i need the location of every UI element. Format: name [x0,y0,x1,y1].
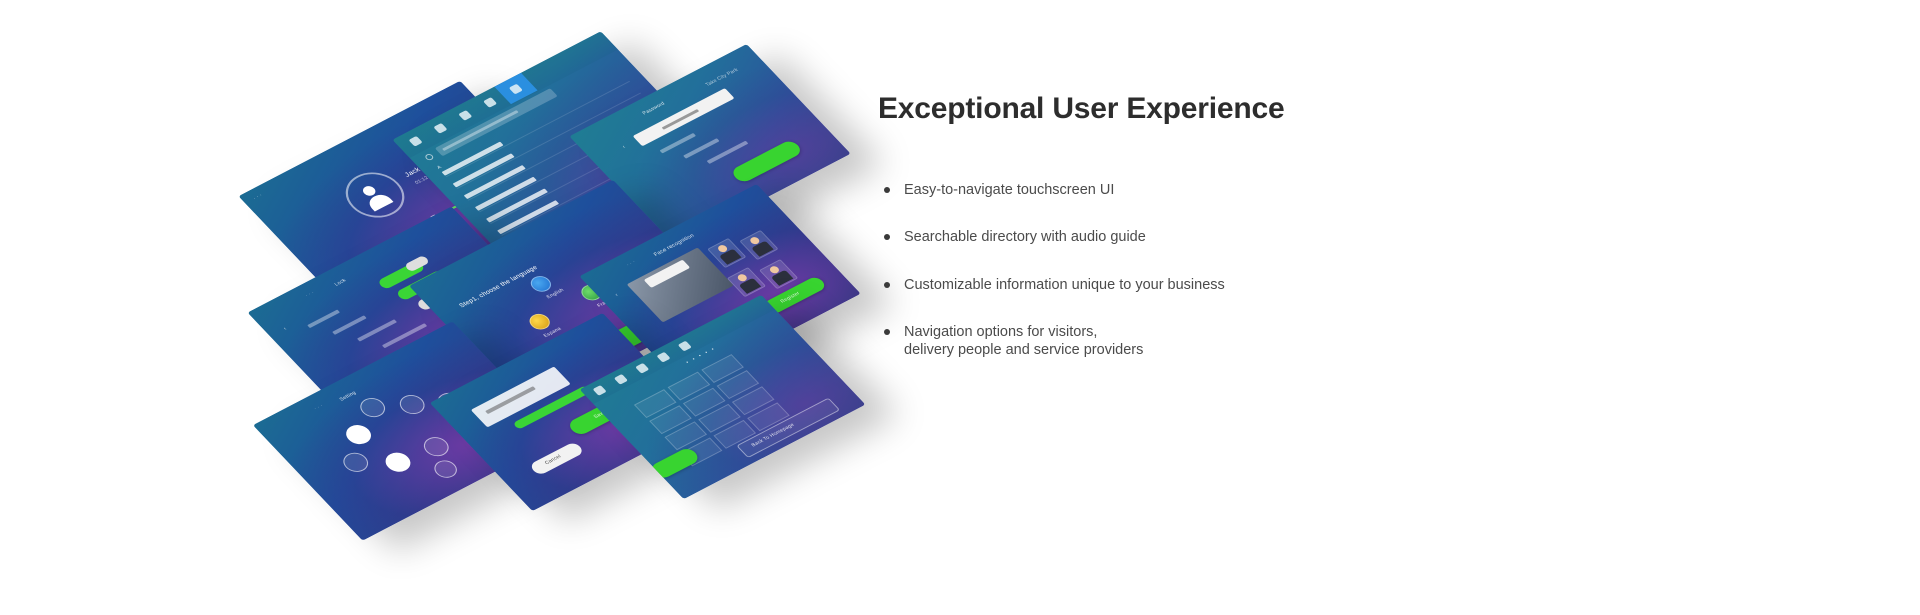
feature-item: Easy-to-navigate touchscreen UI [878,181,1398,199]
page-title: Exceptional User Experience [878,92,1398,125]
slide-root: · · · Jack 01:12 ☎ A [0,0,1920,615]
feature-item: Customizable information unique to your … [878,276,1398,294]
feature-text-line2: delivery people and service providers [904,341,1398,359]
copy-block: Exceptional User Experience Easy-to-navi… [878,92,1398,359]
bullet-icon [884,282,890,288]
phone-mockup-collage: · · · Jack 01:12 ☎ A [290,60,850,560]
feature-text: Navigation options for visitors, [904,324,1097,340]
feature-text: Customizable information unique to your … [904,277,1225,293]
bullet-icon [884,234,890,240]
feature-text: Searchable directory with audio guide [904,229,1146,245]
bullet-icon [884,329,890,335]
bullet-icon [884,187,890,193]
feature-text: Easy-to-navigate touchscreen UI [904,182,1114,198]
feature-item: Navigation options for visitors, deliver… [878,323,1398,360]
feature-list: Easy-to-navigate touchscreen UI Searchab… [878,181,1398,359]
feature-item: Searchable directory with audio guide [878,228,1398,246]
